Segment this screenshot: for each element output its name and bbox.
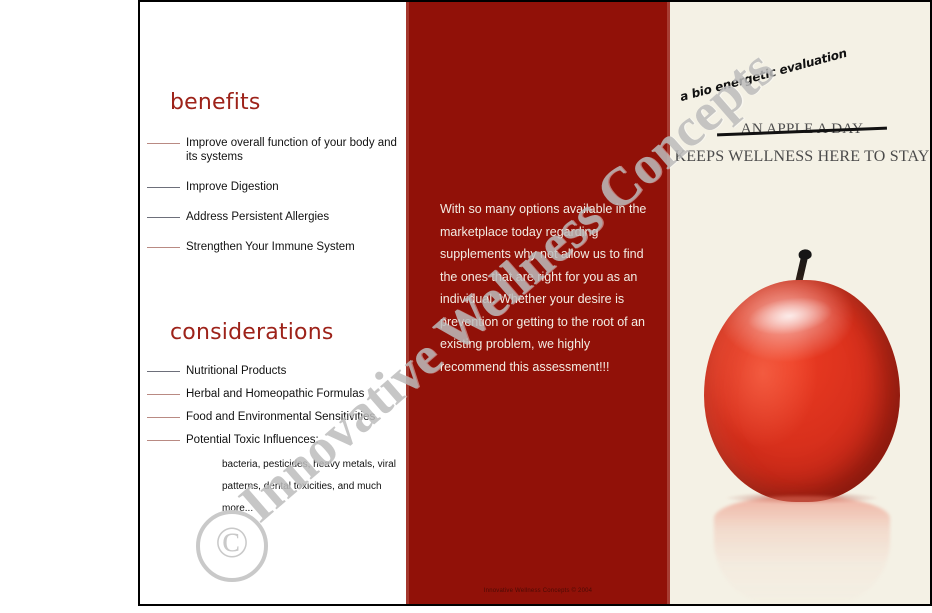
bullet-dash-icon	[147, 394, 180, 395]
benefits-item-text: Address Persistent Allergies	[186, 211, 329, 223]
benefits-list-item: Strengthen Your Immune System	[140, 240, 406, 254]
bullet-dash-icon	[147, 187, 180, 188]
benefits-list-item: Improve Digestion	[140, 180, 406, 194]
footer-copyright-credit: Innovative Wellness Concepts © 2004	[406, 588, 670, 594]
handwritten-note: a bio energetic evaluation	[678, 46, 848, 104]
considerations-heading: considerations	[170, 320, 334, 345]
considerations-list-item: Nutritional Products	[140, 364, 406, 378]
brochure-page: benefits Improve overall function of you…	[0, 0, 932, 613]
bullet-dash-icon	[147, 247, 180, 248]
benefits-heading: benefits	[170, 90, 261, 115]
benefits-item-text: Improve Digestion	[186, 181, 279, 193]
considerations-item-text: Potential Toxic Influences:	[186, 434, 319, 446]
considerations-list-item: Potential Toxic Influences:	[140, 433, 406, 447]
considerations-list: Nutritional Products Herbal and Homeopat…	[140, 364, 406, 456]
benefits-list-item: Improve overall function of your body an…	[140, 136, 406, 164]
benefits-list: Improve overall function of your body an…	[140, 136, 406, 270]
benefits-list-item: Address Persistent Allergies	[140, 210, 406, 224]
considerations-list-item: Food and Environmental Sensitivities	[140, 410, 406, 424]
considerations-item-text: Nutritional Products	[186, 365, 286, 377]
benefits-item-text: Improve overall function of your body an…	[186, 137, 397, 163]
brochure-frame: benefits Improve overall function of you…	[138, 0, 932, 606]
considerations-item-text: Herbal and Homeopathic Formulas	[186, 388, 364, 400]
apple-body-shape	[704, 280, 900, 502]
bullet-dash-icon	[147, 371, 180, 372]
panel-center-red: With so many options available in the ma…	[406, 2, 670, 604]
bullet-dash-icon	[147, 217, 180, 218]
bullet-dash-icon	[147, 143, 180, 144]
bullet-dash-icon	[147, 440, 180, 441]
center-body-copy: With so many options available in the ma…	[440, 198, 648, 378]
benefits-item-text: Strengthen Your Immune System	[186, 241, 355, 253]
slogan-line-1-wrapper: AN APPLE A DAY	[741, 121, 863, 138]
apple-reflection	[714, 496, 890, 604]
considerations-list-item: Herbal and Homeopathic Formulas	[140, 387, 406, 401]
panel-right-cream: AN APPLE A DAY KEEPS WELLNESS HERE TO ST…	[670, 2, 932, 604]
considerations-item-text: Food and Environmental Sensitivities	[186, 411, 375, 423]
bullet-dash-icon	[147, 417, 180, 418]
toxic-influences-subnote: bacteria, pesticides, heavy metals, vira…	[222, 454, 397, 520]
panel-left-white: benefits Improve overall function of you…	[140, 2, 406, 604]
apple-illustration	[670, 234, 932, 604]
slogan-line-2-text: KEEPS WELLNESS HERE TO STAY	[670, 148, 932, 166]
slogan-block: AN APPLE A DAY KEEPS WELLNESS HERE TO ST…	[670, 120, 932, 138]
